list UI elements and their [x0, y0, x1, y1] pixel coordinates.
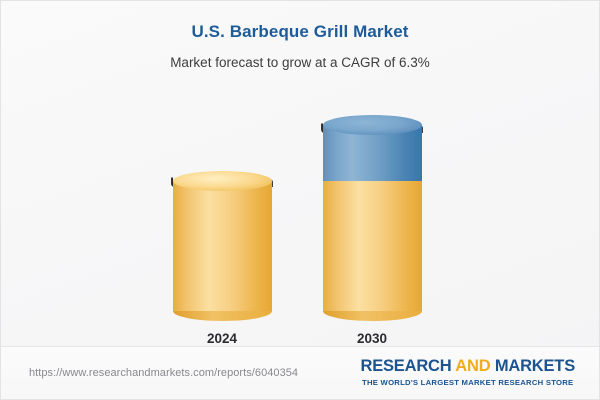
- logo-tagline: THE WORLD'S LARGEST MARKET RESEARCH STOR…: [360, 378, 575, 388]
- category-label-2030: 2030: [297, 330, 447, 347]
- chart-header: U.S. Barbeque Grill Market Market foreca…: [1, 1, 599, 72]
- logo-word-markets: MARKETS: [495, 357, 575, 375]
- bar-segment-growth-2030: [323, 125, 422, 181]
- chart-subtitle: Market forecast to grow at a CAGR of 6.3…: [1, 54, 599, 72]
- footer: https://www.researchandmarkets.com/repor…: [1, 347, 599, 400]
- bar-cylinder-2030: [323, 125, 422, 311]
- cylinder-body: [323, 181, 422, 311]
- category-label-2024: 2024: [147, 330, 297, 347]
- brand-logo[interactable]: RESEARCH AND MARKETS THE WORLD'S LARGEST…: [360, 357, 575, 388]
- bar-cylinder-2024: [173, 181, 272, 311]
- report-url[interactable]: https://www.researchandmarkets.com/repor…: [29, 367, 298, 379]
- logo-word-research: RESEARCH: [360, 357, 451, 375]
- chart-card: U.S. Barbeque Grill Market Market foreca…: [0, 0, 600, 400]
- page-title: U.S. Barbeque Grill Market: [1, 21, 599, 43]
- logo-word-and: AND: [455, 357, 490, 375]
- bar-segment-base-2024: [173, 181, 272, 311]
- bar-group-2024[interactable]: USD 3.35 Billion 2024: [147, 89, 297, 339]
- bar-segment-base-2030: [323, 181, 422, 311]
- cylinder-top-cap-icon: [323, 115, 422, 135]
- cylinder-top-cap-icon: [173, 171, 272, 191]
- logo-wordmark: RESEARCH AND MARKETS: [360, 357, 575, 376]
- cylinder-body: [173, 181, 272, 311]
- chart-plot-area: USD 3.35 Billion 2024 USD 4.81 Billion: [1, 89, 600, 339]
- bar-group-2030[interactable]: USD 4.81 Billion 2030: [297, 89, 447, 339]
